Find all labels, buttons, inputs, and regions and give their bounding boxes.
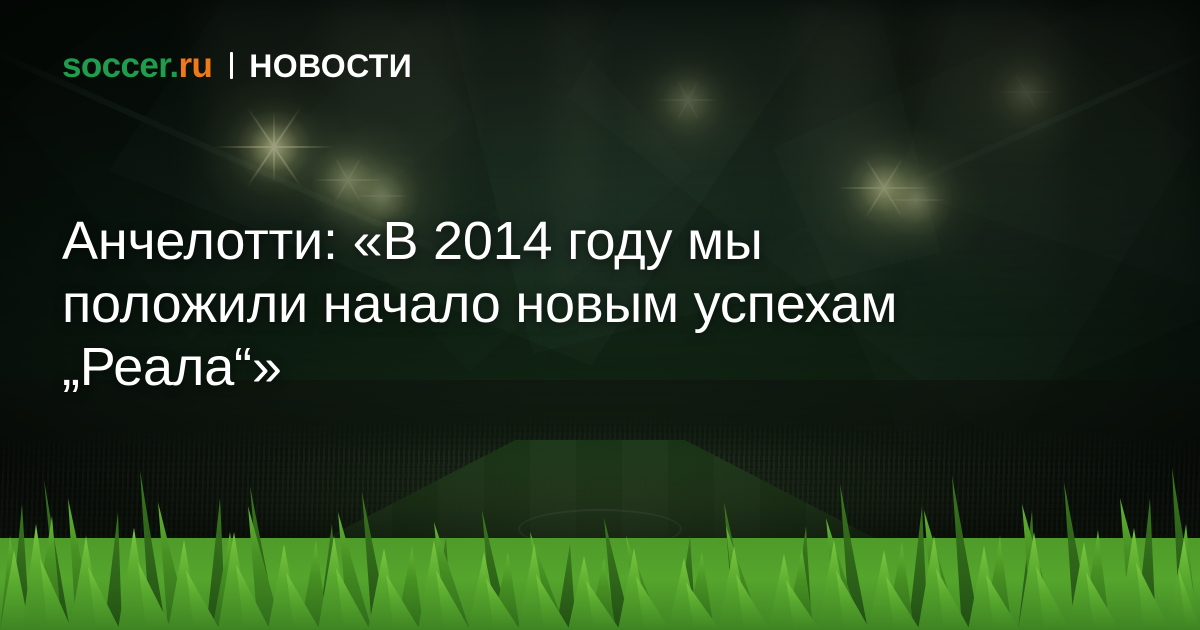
brand-separator-icon [230,52,233,79]
headline-line: положили начало новым успехам [62,273,1072,336]
news-share-card: soccer.ru НОВОСТИ Анчелотти: «В 2014 год… [0,0,1200,630]
headline-line: „Реала“» [62,336,1072,399]
card-content: soccer.ru НОВОСТИ Анчелотти: «В 2014 год… [0,0,1200,630]
brand-logo-tld: ru [178,46,212,85]
brand-section-label: НОВОСТИ [249,50,412,82]
brand-logo-word: soccer. [62,46,178,85]
site-brand[interactable]: soccer.ru НОВОСТИ [62,48,412,83]
headline-line: Анчелотти: «В 2014 году мы [62,210,1072,273]
page-title: Анчелотти: «В 2014 году мы положили нача… [62,210,1072,400]
brand-logo[interactable]: soccer.ru [62,48,212,83]
